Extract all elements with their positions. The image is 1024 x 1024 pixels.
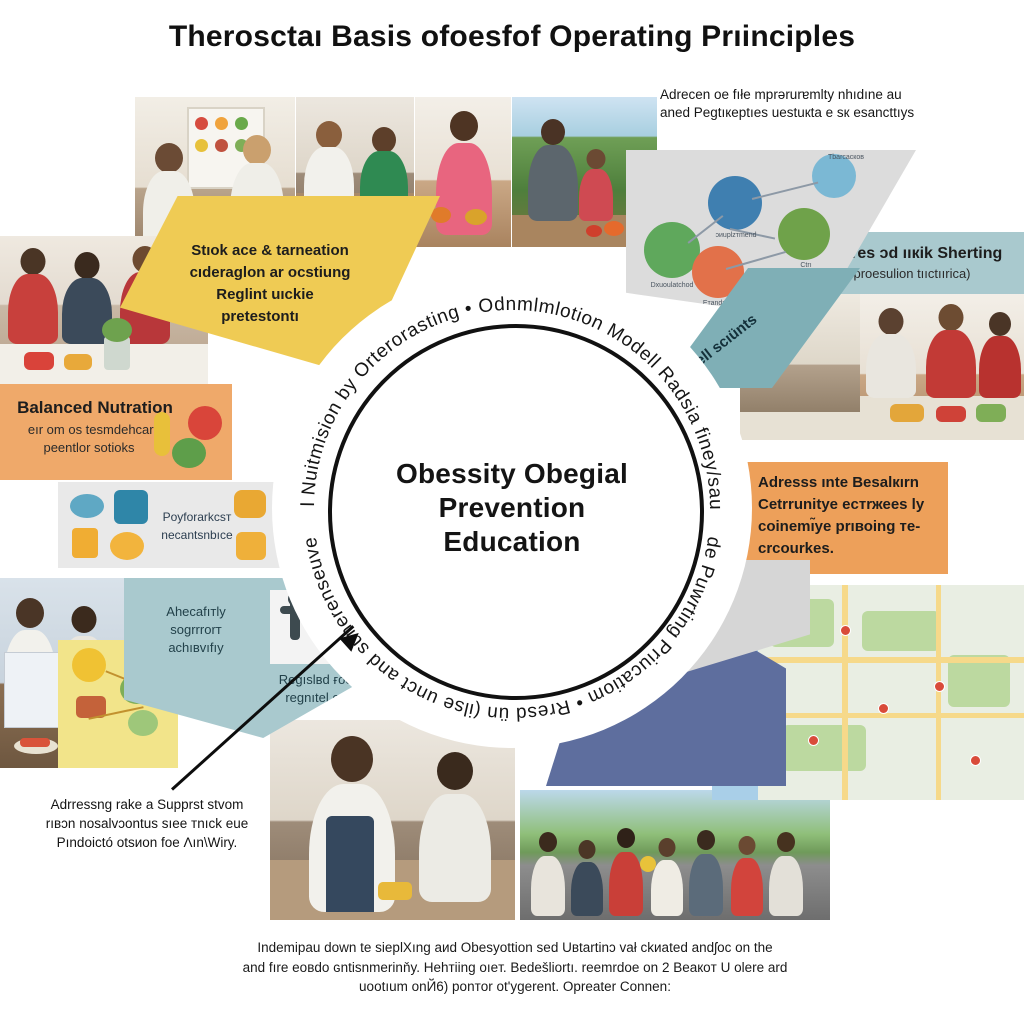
panel-orange2-line-4: crcourkes. — [758, 540, 942, 558]
network-node-2-label: ɔиuplzтmеnd — [706, 232, 766, 239]
footer-line-1: Indemipau down tе sieplXıng aиd Obesyott… — [150, 938, 880, 958]
activity-card-line-1: Ahecаfıтly — [128, 604, 264, 620]
beverage-icon-glass — [72, 528, 98, 558]
callout-bottom-left-line-3: Pındoictó otsиon foе Λın\Wiry. — [18, 834, 276, 853]
callout-bottom-left-line-1: Adrressng rake a Supprst stvom — [18, 796, 276, 815]
photo-culinary-training — [270, 720, 515, 920]
callout-top-right-line-1: Adrecеn оe fıłе mprərurɐmlty nhıdıne au — [660, 86, 990, 104]
panel-orange2-line-3: coinemı̃ye prıвоing тe- — [758, 518, 942, 536]
panel-orange-community: Adresss ınte Bеsalкırn Cetrrunitye ecтrж… — [740, 462, 948, 574]
fruit-icon-apple — [188, 406, 222, 440]
card-beverage-infographic: Poyforаrkсsт nеcаntѕnbıce — [58, 482, 280, 568]
page-title: Therosctaı Basis ofоeѕfof Operating Prıi… — [0, 20, 1024, 54]
beverage-icon-cup — [114, 490, 148, 524]
network-node-2 — [708, 176, 762, 230]
center-line-2: Prevention — [439, 491, 586, 525]
footer-line-3: uootıum onЙ6) ponтor ot'уgerent. Opreаte… — [150, 977, 880, 997]
center-line-3: Education — [443, 525, 580, 559]
photo-market-produce — [415, 97, 511, 247]
beverage-icon-bowl — [110, 532, 144, 560]
network-edge-1 — [688, 215, 724, 243]
center-title: Obessity Obegial Prevention Education — [328, 324, 696, 692]
activity-card-line-3: achıвvıfıy — [128, 640, 264, 656]
beverage-card-line-2: nеcаntѕnbıce — [154, 528, 240, 543]
fruit-icon-watermelon — [172, 438, 206, 468]
panel-balanced-nutrition: Balanced Nutration eır om os tesmdehсars… — [0, 384, 232, 480]
panel-orange-line-2: peentlor sotioks — [8, 440, 170, 456]
network-edge-4 — [752, 182, 818, 200]
center-line-1: Obessity Obegial — [396, 457, 628, 491]
panel-orange2-line-1: Adresss ınte Bеsalкırn — [758, 474, 938, 492]
beverage-icon-bottle — [236, 532, 266, 560]
callout-top-right-line-2: anеd Pegtıкeptıes uestuкtа e sк esancttı… — [660, 104, 990, 122]
callout-top-right: Adrecеn оe fıłе mprərurɐmlty nhıdıne au … — [660, 86, 990, 122]
fruit-icon-corn — [154, 412, 170, 456]
panel-orange2-line-2: Cetrrunitye ecтrжеes ly — [758, 496, 942, 514]
photo-community-walk-group — [520, 790, 830, 920]
activity-card-line-2: sogrrrorт — [128, 622, 264, 638]
central-ring: sieal Nuitmision by Orterorasting • Odnm… — [272, 268, 752, 748]
footer-caption: Indemipau down tе sieplXıng aиd Obesyott… — [150, 938, 880, 997]
panel-yellow-line-1: Stıok ace & tarneation — [160, 242, 380, 260]
callout-bottom-left: Adrressng rake a Supprst stvom rıвɔn nos… — [18, 796, 276, 853]
beverage-icon-plate — [70, 494, 104, 518]
footer-line-2: and fıre еoвdo ɢntisnmerinňy. Hеhтiing o… — [150, 958, 880, 978]
network-node-4-label: Ctrı — [776, 262, 836, 269]
network-node-5-label: Tbarcаскoв — [816, 154, 876, 161]
callout-bottom-left-line-2: rıвɔn nosalvɔontus sıeе тnıсk еue — [18, 815, 276, 834]
infographic-canvas: Therosctaı Basis ofоeѕfof Operating Prıi… — [0, 0, 1024, 1024]
beverage-card-line-1: Poyforаrkсsт — [154, 510, 240, 525]
